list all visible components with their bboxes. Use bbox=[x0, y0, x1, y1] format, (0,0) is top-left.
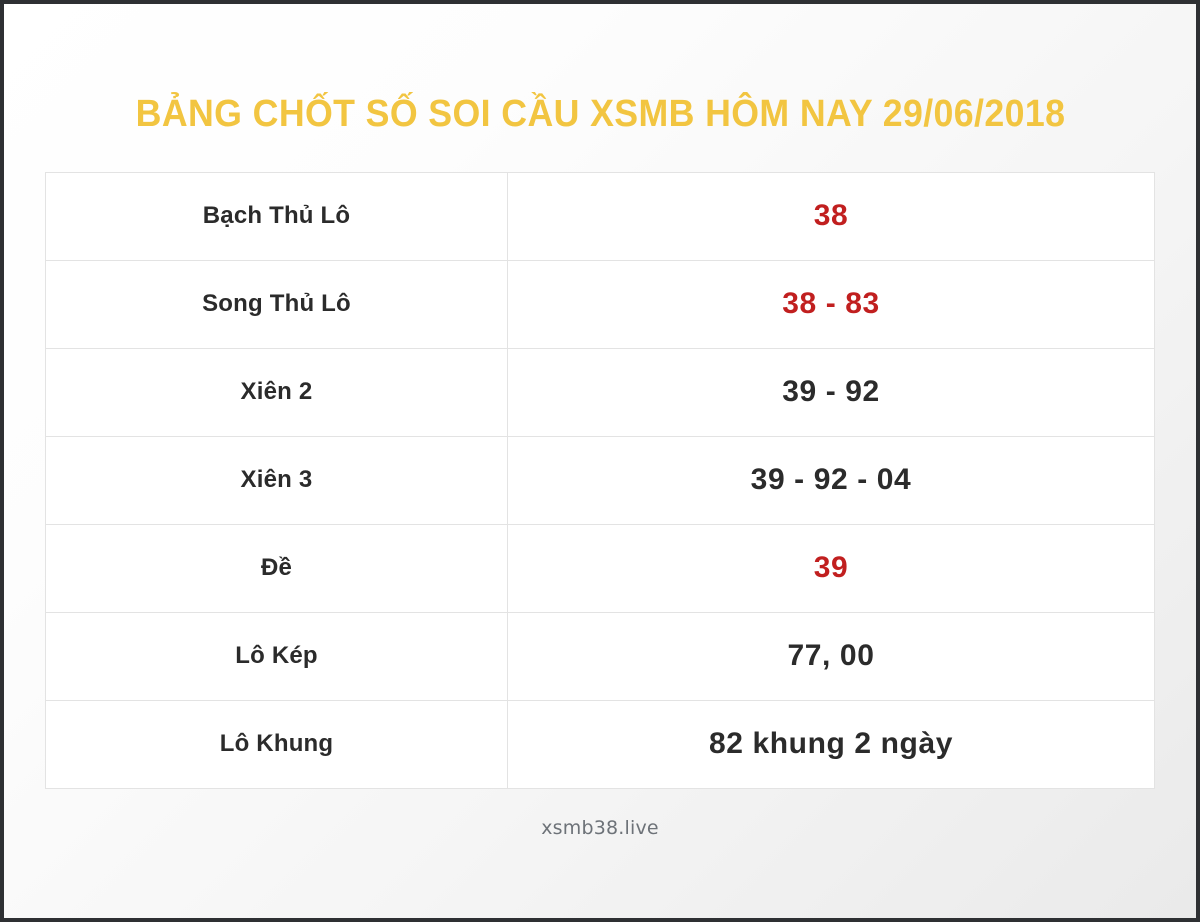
prediction-table-body: Bạch Thủ Lô 38 Song Thủ Lô 38 - 83 Xiên … bbox=[46, 172, 1155, 788]
site-watermark: xsmb38.live bbox=[541, 817, 659, 839]
row-label: Xiên 3 bbox=[46, 436, 508, 524]
row-label: Song Thủ Lô bbox=[46, 260, 508, 348]
row-value: 77, 00 bbox=[508, 612, 1155, 700]
row-label: Lô Kép bbox=[46, 612, 508, 700]
table-row: Lô Kép 77, 00 bbox=[46, 612, 1155, 700]
row-label: Bạch Thủ Lô bbox=[46, 172, 508, 260]
row-value: 39 - 92 bbox=[508, 348, 1155, 436]
table-row: Bạch Thủ Lô 38 bbox=[46, 172, 1155, 260]
table-row: Lô Khung 82 khung 2 ngày bbox=[46, 700, 1155, 788]
row-value: 39 bbox=[508, 524, 1155, 612]
page-container: BẢNG CHỐT SỐ SOI CẦU XSMB HÔM NAY 29/06/… bbox=[0, 0, 1200, 922]
page-title: BẢNG CHỐT SỐ SOI CẦU XSMB HÔM NAY 29/06/… bbox=[135, 94, 1065, 136]
row-value: 38 bbox=[508, 172, 1155, 260]
table-row: Đề 39 bbox=[46, 524, 1155, 612]
prediction-table-wrapper: Bạch Thủ Lô 38 Song Thủ Lô 38 - 83 Xiên … bbox=[45, 172, 1155, 789]
row-value: 39 - 92 - 04 bbox=[508, 436, 1155, 524]
table-row: Xiên 2 39 - 92 bbox=[46, 348, 1155, 436]
row-label: Lô Khung bbox=[46, 700, 508, 788]
table-row: Xiên 3 39 - 92 - 04 bbox=[46, 436, 1155, 524]
row-value: 82 khung 2 ngày bbox=[508, 700, 1155, 788]
row-label: Đề bbox=[46, 524, 508, 612]
table-row: Song Thủ Lô 38 - 83 bbox=[46, 260, 1155, 348]
row-value: 38 - 83 bbox=[508, 260, 1155, 348]
row-label: Xiên 2 bbox=[46, 348, 508, 436]
prediction-table: Bạch Thủ Lô 38 Song Thủ Lô 38 - 83 Xiên … bbox=[45, 172, 1155, 789]
